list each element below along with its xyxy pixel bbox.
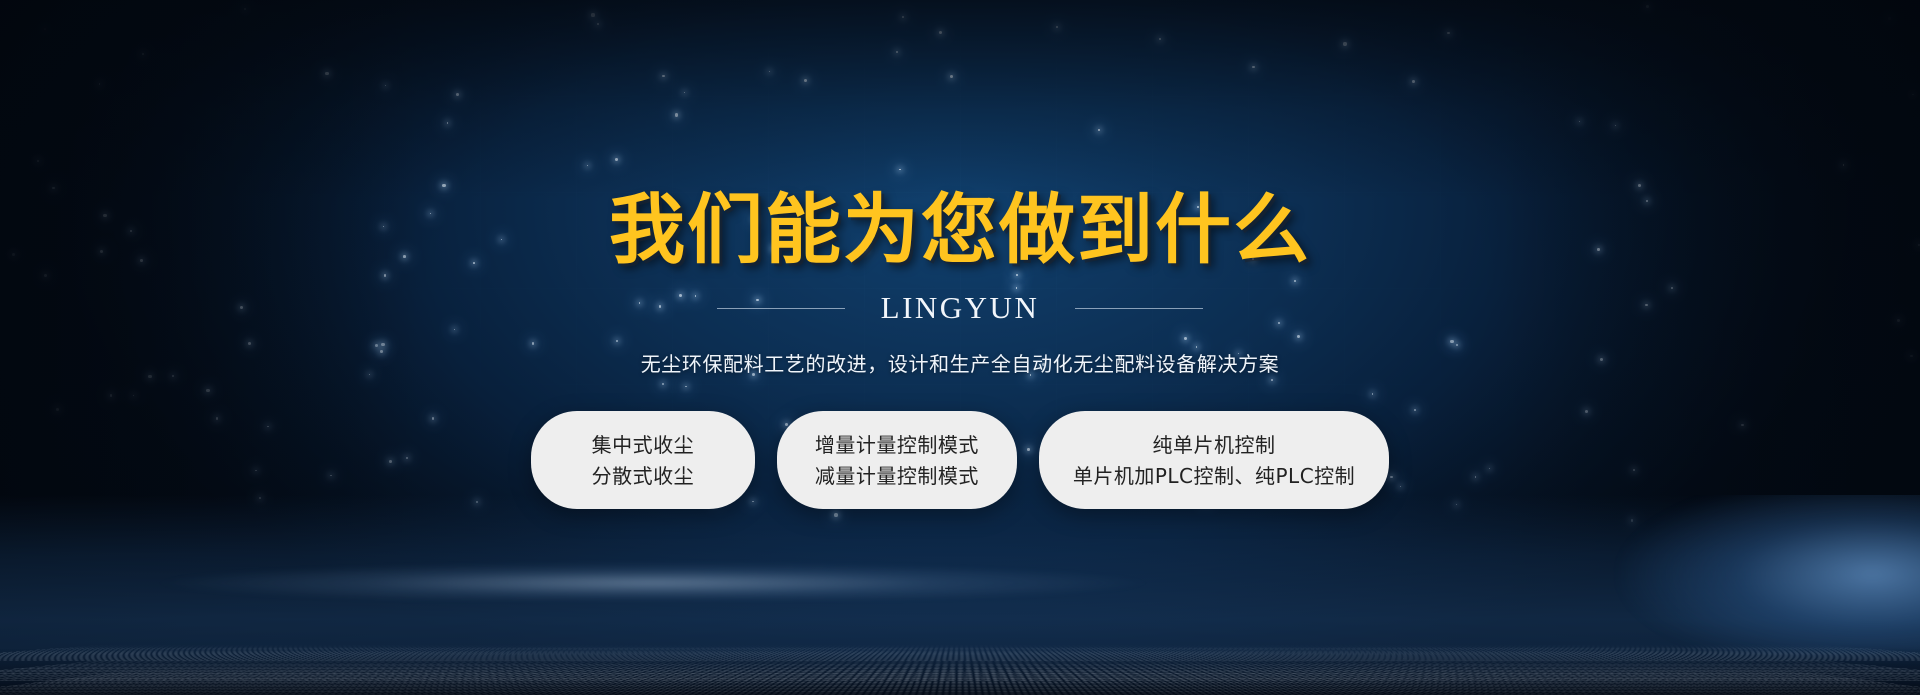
page-title: 我们能为您做到什么 [609,192,1311,268]
feature-pill-line: 减量计量控制模式 [815,466,979,486]
feature-pill-line: 单片机加PLC控制、纯PLC控制 [1073,466,1355,486]
hero-content: 我们能为您做到什么 LINGYUN 无尘环保配料工艺的改进，设计和生产全自动化无… [0,0,1920,695]
brand-rule-right [1075,308,1203,309]
feature-pill-line: 分散式收尘 [592,466,695,486]
feature-pill-control-system[interactable]: 纯单片机控制 单片机加PLC控制、纯PLC控制 [1039,411,1389,509]
feature-pill-dust-collection[interactable]: 集中式收尘 分散式收尘 [531,411,755,509]
hero-banner: 我们能为您做到什么 LINGYUN 无尘环保配料工艺的改进，设计和生产全自动化无… [0,0,1920,695]
feature-pill-metering-mode[interactable]: 增量计量控制模式 减量计量控制模式 [777,411,1017,509]
brand-name: LINGYUN [881,290,1040,326]
feature-pill-line: 集中式收尘 [592,435,695,455]
brand-rule-left [717,308,845,309]
feature-pill-line: 纯单片机控制 [1153,435,1276,455]
feature-pill-line: 增量计量控制模式 [815,435,979,455]
feature-pill-group: 集中式收尘 分散式收尘 增量计量控制模式 减量计量控制模式 纯单片机控制 单片机… [531,411,1389,509]
brand-row: LINGYUN [717,290,1204,326]
page-subtitle: 无尘环保配料工艺的改进，设计和生产全自动化无尘配料设备解决方案 [641,348,1280,377]
